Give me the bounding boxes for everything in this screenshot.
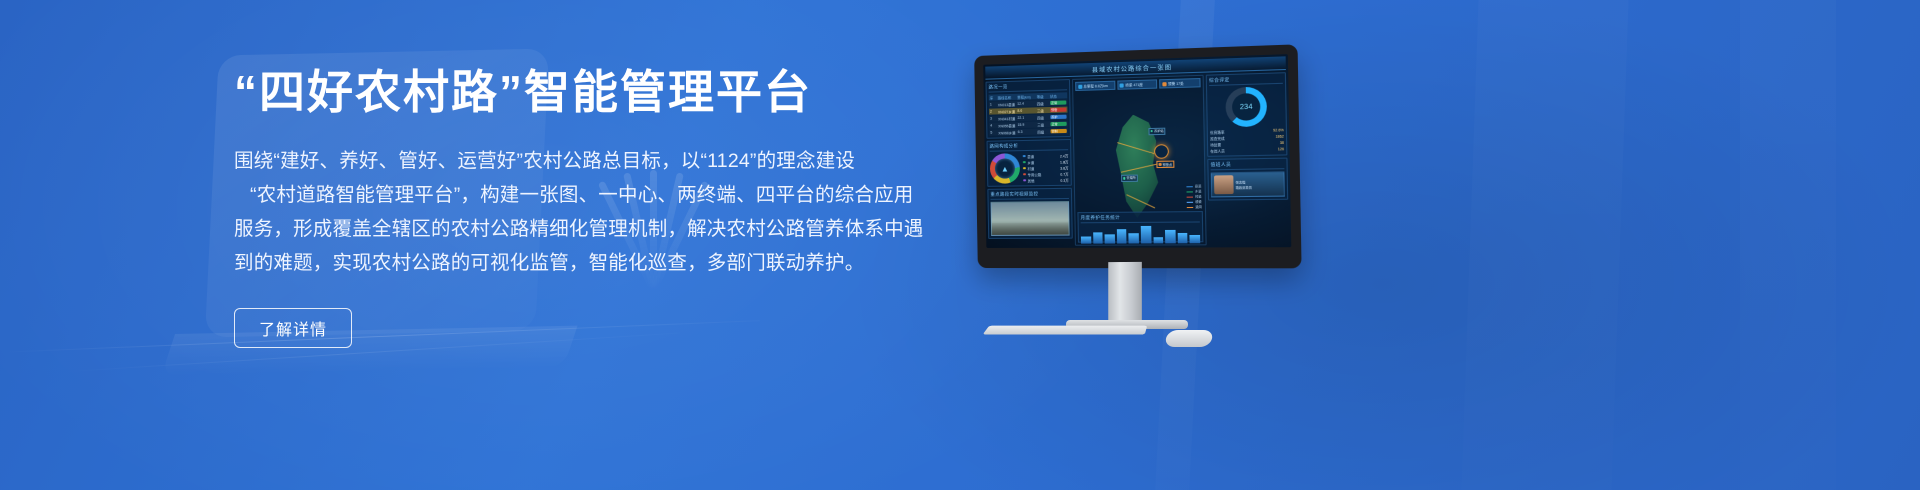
cell-grade: 三级	[1037, 108, 1049, 113]
pin-dot-icon	[1150, 130, 1153, 133]
road-status-table: 序 路线名称 里程(km) 等级 状态 1 XN013县道 12.4	[989, 92, 1068, 135]
metric-list: 优良路率 92.6% 巡查完成 1862 待处置 38	[1210, 128, 1284, 154]
bar	[1129, 233, 1139, 243]
legend-label: 村道	[1195, 194, 1201, 198]
map-chip[interactable]: 预警 17处	[1159, 78, 1200, 89]
legend-swatch	[1023, 155, 1026, 158]
legend-value: 1.8万	[1060, 159, 1068, 164]
road-status-panel-title: 路况一览	[989, 82, 1068, 92]
alert-icon	[1162, 82, 1166, 86]
dashboard-left-column: 路况一览 序 路线名称 里程(km) 等级 状态 1	[985, 79, 1072, 246]
background-stripe-2	[1461, 0, 1628, 490]
cell-value: 15.9	[1018, 123, 1037, 127]
duty-officer-name: 张志强	[1236, 180, 1252, 184]
legend-item: 村道 3.6万	[1023, 165, 1069, 171]
legend-label: 桥梁	[1195, 200, 1201, 204]
legend-value: 0.3万	[1060, 177, 1068, 182]
metric-label: 优良路率	[1210, 129, 1225, 135]
legend-swatch	[1187, 201, 1193, 202]
legend-swatch	[1023, 167, 1026, 170]
duty-panel-title: 值班人员	[1211, 161, 1285, 171]
map-legend-item: 县道	[1187, 184, 1201, 188]
hero-content: “四好农村路”智能管理平台 围绕“建好、养好、管好、运营好”农村公路总目标，以“…	[234, 64, 874, 348]
duty-panel: 值班人员 张志强 路政巡查员	[1207, 158, 1288, 201]
column-header: 状态	[1050, 93, 1066, 99]
cell-value: 8.6	[1017, 108, 1036, 113]
table-row[interactable]: 5 XN068乡道 6.3 四级 管制	[989, 128, 1068, 136]
bar	[1105, 235, 1115, 244]
map-chip-label: 桥梁 471座	[1125, 82, 1143, 88]
bar	[1093, 232, 1103, 243]
legend-label: 乡道	[1195, 189, 1201, 193]
legend-swatch	[1023, 161, 1026, 164]
description-line: 服务，形成覆盖全辖区的农村公路精细化管理机制，解决农村公路管养体系中遇	[234, 212, 846, 246]
score-value: 234	[1225, 86, 1267, 127]
cell-grade: 三级	[1037, 122, 1049, 127]
legend-label: 涵洞	[1195, 205, 1201, 209]
column-header: 路线名称	[998, 94, 1017, 100]
metric-label: 在岗人员	[1210, 148, 1225, 153]
metric-value: 92.6%	[1273, 128, 1284, 133]
donut-legend: 县道 2.4万 乡道 1.8万	[1023, 153, 1069, 183]
map-pin-label: 养护站	[1154, 129, 1164, 133]
monitor-screen: 县域农村公路综合一张图 路况一览 序 路线名称 里程(km) 等级	[983, 54, 1291, 248]
metric-value: 38	[1280, 141, 1284, 146]
legend-label: 县道	[1195, 184, 1201, 188]
metric-label: 待处置	[1210, 142, 1221, 147]
legend-value: 3.6万	[1060, 165, 1068, 170]
description-line: 到的难题，实现农村公路的可视化监管，智能化巡查，多部门联动养护。	[234, 246, 846, 280]
background-stripe-3	[1740, 0, 1836, 490]
legend-swatch	[1023, 173, 1026, 176]
map-pin-alert[interactable]: 预警点	[1157, 161, 1175, 169]
legend-item: 其他 0.3万	[1023, 177, 1069, 183]
donut-chart: ▲	[990, 153, 1020, 184]
legend-label: 专用公路	[1028, 171, 1042, 176]
cell-no: 5	[990, 131, 997, 135]
map-pin[interactable]: 管理所	[1121, 175, 1138, 182]
legend-swatch	[1187, 206, 1193, 207]
duty-officer-card[interactable]: 张志强 路政巡查员	[1211, 171, 1285, 197]
pin-dot-icon	[1123, 177, 1126, 180]
cell-value: 6.3	[1018, 130, 1037, 134]
duty-officer-info: 张志强 路政巡查员	[1236, 180, 1252, 190]
legend-label: 乡道	[1027, 159, 1034, 164]
bar	[1081, 236, 1091, 243]
keyboard	[983, 326, 1148, 335]
legend-label: 村道	[1027, 166, 1034, 171]
legend-swatch	[1187, 191, 1193, 192]
cell-no: 4	[990, 123, 997, 127]
cell-value: 22.1	[1017, 115, 1036, 120]
column-header: 等级	[1037, 93, 1049, 98]
cell-name: XN041村道	[998, 115, 1017, 120]
bar	[1165, 230, 1175, 243]
legend-value: 2.4万	[1060, 153, 1068, 158]
score-panel-title: 综合评定	[1209, 75, 1283, 86]
cell-no: 2	[990, 109, 997, 113]
map-pin-label: 预警点	[1163, 162, 1173, 166]
legend-swatch	[1187, 196, 1193, 197]
network-composition-panel: 路网构成分析 ▲ 县道 2.4万	[987, 139, 1072, 187]
donut-chart-wrap: ▲ 县道 2.4万	[990, 152, 1069, 184]
status-badge: 正常	[1050, 122, 1066, 126]
score-panel: 综合评定 234 优良路率 92.6% 巡查完成	[1206, 72, 1288, 157]
dashboard-right-column: 综合评定 234 优良路率 92.6% 巡查完成	[1206, 72, 1289, 245]
hero-description: 围绕“建好、养好、管好、运营好”农村公路总目标，以“1124”的理念建设 “农村…	[234, 144, 846, 280]
road-icon	[1078, 84, 1082, 88]
cell-grade: 四级	[1037, 100, 1049, 105]
score-gauge: 234	[1225, 86, 1267, 127]
map-stat-chips: 总里程 8.8万km 桥梁 471座 预警 17处	[1075, 78, 1201, 91]
status-badge: 正常	[1050, 100, 1066, 105]
donut-center-icon: ▲	[990, 153, 1020, 184]
cell-name: XN055县道	[998, 123, 1017, 128]
bar	[1177, 232, 1187, 243]
monitor-body: 县域农村公路综合一张图 路况一览 序 路线名称 里程(km) 等级	[974, 44, 1301, 268]
cell-value: 12.4	[1017, 101, 1036, 106]
map-legend-item: 涵洞	[1187, 205, 1201, 209]
status-badge: 养护	[1050, 115, 1066, 119]
legend-swatch	[1023, 179, 1026, 182]
cell-no: 1	[990, 102, 997, 106]
road-status-panel: 路况一览 序 路线名称 里程(km) 等级 状态 1	[985, 79, 1070, 139]
map-chip[interactable]: 总里程 8.8万km	[1075, 81, 1115, 91]
mouse	[1164, 330, 1214, 347]
page-title: “四好农村路”智能管理平台	[234, 64, 874, 122]
description-line: “农村道路智能管理平台”，构建一张图、一中心、两终端、四平台的综合应用	[234, 178, 846, 212]
monitor-stand-neck	[1108, 262, 1142, 324]
column-header: 序	[990, 95, 997, 100]
metric-value: 1862	[1275, 134, 1283, 139]
duty-officer-role: 路政巡查员	[1236, 185, 1252, 189]
bar	[1117, 229, 1127, 244]
metric-value: 126	[1278, 147, 1284, 152]
camera-panel-title: 重点路段实时视频监控	[990, 191, 1069, 200]
camera-feed[interactable]	[991, 201, 1070, 236]
camera-panel: 重点路段实时视频监控	[987, 188, 1072, 239]
map-pin[interactable]: 养护站	[1148, 127, 1165, 135]
map-legend: 县道 乡道 村道 桥梁	[1187, 184, 1202, 209]
legend-label: 其他	[1028, 178, 1035, 183]
metric-item: 在岗人员 126	[1210, 147, 1284, 154]
learn-more-button[interactable]: 了解详情	[234, 308, 352, 348]
maintenance-chart-panel: 月度养护任务统计	[1077, 211, 1203, 243]
description-line: 围绕“建好、养好、管好、运营好”农村公路总目标，以“1124”的理念建设	[234, 144, 846, 178]
hero-banner: “四好农村路”智能管理平台 围绕“建好、养好、管好、运营好”农村公路总目标，以“…	[0, 0, 1920, 490]
legend-value: 0.7万	[1060, 171, 1068, 176]
legend-label: 县道	[1027, 153, 1034, 158]
map-chip[interactable]: 桥梁 471座	[1117, 79, 1158, 89]
map-legend-item: 村道	[1187, 194, 1201, 198]
legend-item: 县道 2.4万	[1023, 153, 1069, 159]
cell-name: XN068乡道	[998, 130, 1017, 135]
cell-name: XN027乡道	[998, 108, 1017, 114]
network-composition-title: 路网构成分析	[990, 142, 1069, 152]
bridge-icon	[1120, 83, 1124, 87]
bar	[1141, 226, 1151, 243]
status-badge: 预警	[1050, 108, 1066, 112]
map-alert-ring	[1154, 144, 1169, 159]
cell-no: 3	[990, 116, 997, 120]
monitor-illustration: 县域农村公路综合一张图 路况一览 序 路线名称 里程(km) 等级	[958, 48, 1288, 358]
dashboard: 县域农村公路综合一张图 路况一览 序 路线名称 里程(km) 等级	[983, 54, 1291, 248]
bar-chart	[1081, 225, 1201, 244]
map-panel[interactable]: 总里程 8.8万km 桥梁 471座 预警 17处	[1072, 75, 1207, 246]
map-chip-label: 总里程 8.8万km	[1083, 83, 1108, 89]
maintenance-chart-title: 月度养护任务统计	[1081, 214, 1200, 223]
cell-grade: 四级	[1037, 129, 1049, 134]
pin-dot-icon	[1159, 163, 1162, 166]
cell-grade: 四级	[1037, 115, 1049, 120]
avatar	[1214, 175, 1234, 194]
legend-item: 乡道 1.8万	[1023, 159, 1069, 165]
map-pin-label: 管理所	[1126, 176, 1135, 180]
cell-name: XN013县道	[998, 101, 1017, 107]
legend-item: 专用公路 0.7万	[1023, 171, 1069, 177]
legend-swatch	[1187, 186, 1193, 187]
map-legend-item: 乡道	[1187, 189, 1201, 193]
status-badge: 管制	[1050, 129, 1066, 133]
map-legend-item: 桥梁	[1187, 200, 1201, 204]
map-chip-label: 预警 17处	[1168, 81, 1184, 87]
bar	[1153, 237, 1163, 244]
column-header: 里程(km)	[1017, 94, 1036, 100]
bar	[1190, 235, 1200, 243]
metric-label: 巡查完成	[1210, 136, 1225, 142]
